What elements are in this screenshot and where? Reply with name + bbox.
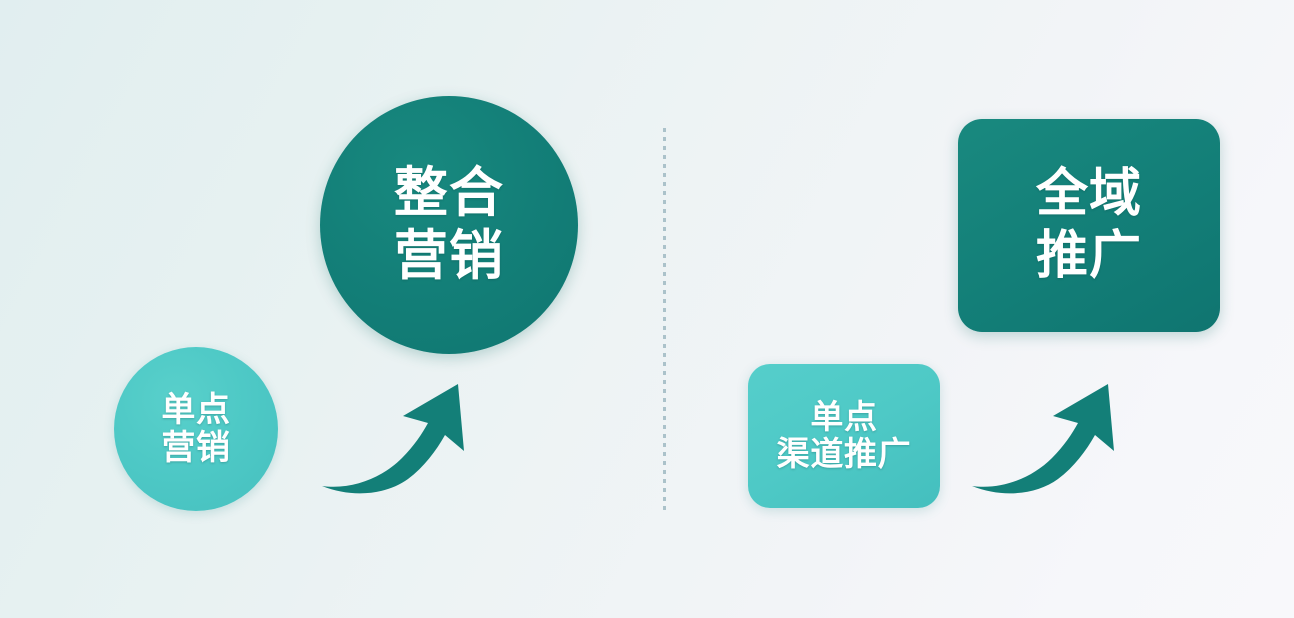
right-small-node-label: 单点 渠道推广 (777, 399, 912, 473)
left-large-node-circle: 整合 营销 (320, 96, 578, 354)
right-large-node-box: 全域 推广 (958, 119, 1220, 332)
infographic-canvas: 单点 营销 整合 营销 单点 渠道推广 全域 推广 (0, 0, 1294, 618)
right-growth-arrow-icon (968, 378, 1128, 496)
right-large-node-label: 全域 推广 (1036, 164, 1142, 287)
left-small-node-label: 单点 营销 (161, 391, 230, 467)
right-small-node-box: 单点 渠道推广 (748, 364, 940, 508)
left-small-node-circle: 单点 营销 (114, 347, 278, 511)
left-growth-arrow-icon (318, 378, 478, 496)
dotted-divider (663, 128, 666, 512)
left-large-node-label: 整合 营销 (394, 162, 504, 287)
